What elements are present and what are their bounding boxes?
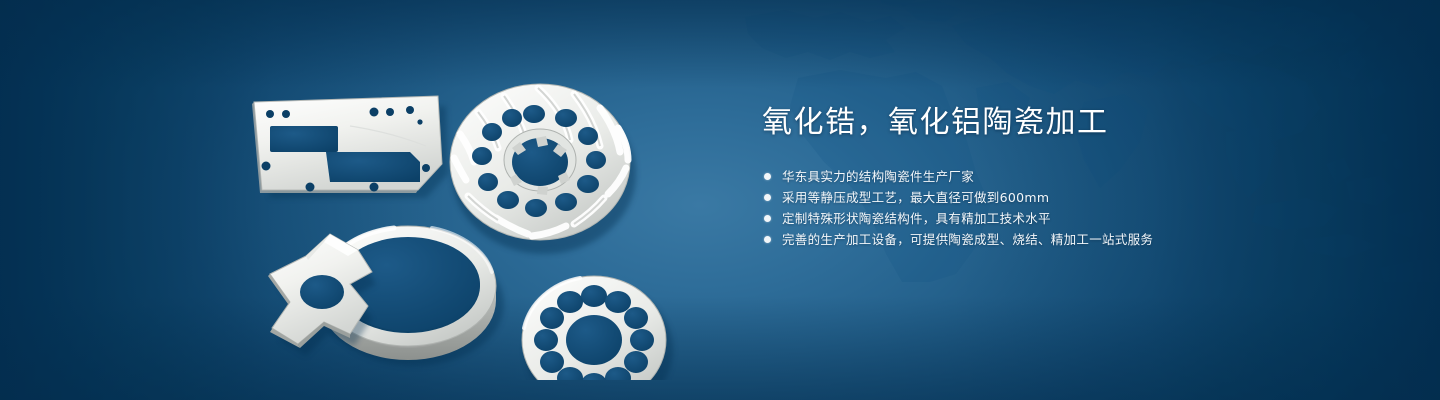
list-item: 华东具实力的结构陶瓷件生产厂家 [764, 166, 1382, 187]
feature-text: 采用等静压成型工艺，最大直径可做到600mm [782, 187, 1049, 208]
feature-text: 定制特殊形状陶瓷结构件，具有精加工技术水平 [782, 208, 1051, 229]
bullet-dot-icon [764, 215, 771, 222]
banner-copy: 氧化锆，氧化铝陶瓷加工 华东具实力的结构陶瓷件生产厂家 采用等静压成型工艺，最大… [762, 108, 1382, 250]
ceramic-mounting-plate [252, 96, 448, 198]
page-title: 氧化锆，氧化铝陶瓷加工 [762, 108, 1382, 138]
list-item: 采用等静压成型工艺，最大直径可做到600mm [764, 187, 1382, 208]
feature-text: 完善的生产加工设备，可提供陶瓷成型、烧结、精加工一站式服务 [782, 229, 1153, 250]
hero-banner: 氧化锆，氧化铝陶瓷加工 华东具实力的结构陶瓷件生产厂家 采用等静压成型工艺，最大… [0, 0, 1440, 400]
bullet-dot-icon [764, 194, 771, 201]
bullet-dot-icon [764, 173, 771, 180]
list-item: 完善的生产加工设备，可提供陶瓷成型、烧结、精加工一站式服务 [764, 229, 1382, 250]
bullet-dot-icon [764, 236, 771, 243]
ceramic-impeller-disc [450, 84, 636, 254]
feature-list: 华东具实力的结构陶瓷件生产厂家 采用等静压成型工艺，最大直径可做到600mm 定… [764, 166, 1382, 250]
ceramic-perforated-disc [522, 276, 673, 380]
product-photo-group [230, 40, 710, 380]
feature-text: 华东具实力的结构陶瓷件生产厂家 [782, 166, 974, 187]
list-item: 定制特殊形状陶瓷结构件，具有精加工技术水平 [764, 208, 1382, 229]
